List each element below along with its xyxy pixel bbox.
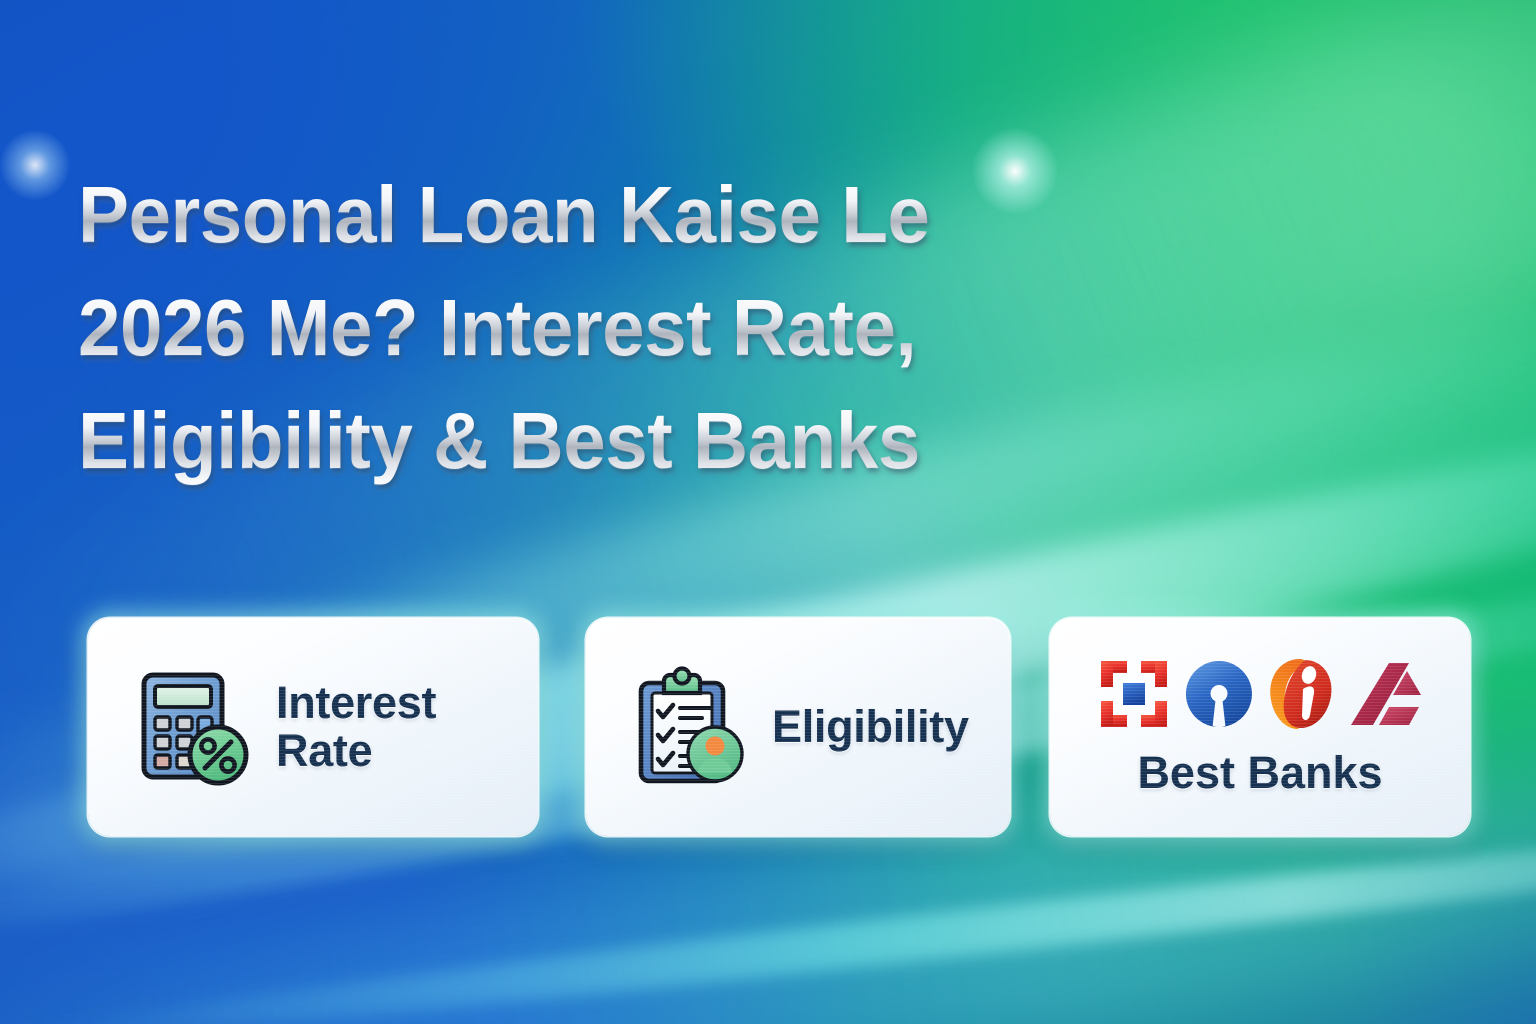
page-title: Personal Loan Kaise Le 2026 Me? Interest… <box>78 158 1198 497</box>
calculator-percent-icon <box>134 667 254 787</box>
card-best-banks-label: Best Banks <box>1137 747 1382 799</box>
clipboard-checklist-person-icon <box>632 667 750 787</box>
bank-logo-group <box>1095 655 1425 733</box>
title-line-3: Eligibility & Best Banks <box>78 384 1148 497</box>
banner-canvas: Personal Loan Kaise Le 2026 Me? Interest… <box>0 0 1536 1024</box>
icici-bank-logo <box>1265 655 1337 733</box>
card-eligibility[interactable]: Eligibility <box>586 618 1010 836</box>
hdfc-bank-logo <box>1095 655 1173 733</box>
sparkle-glow-left-icon <box>0 130 70 200</box>
title-line-1: Personal Loan Kaise Le <box>78 158 1148 271</box>
card-interest-rate-label: Interest Rate <box>276 679 436 774</box>
card-interest-rate[interactable]: Interest Rate <box>88 618 538 836</box>
card-interest-rate-content: Interest Rate <box>88 667 436 787</box>
card-eligibility-label: Eligibility <box>772 703 969 751</box>
title-line-2: 2026 Me? Interest Rate, <box>78 271 1148 384</box>
feature-card-row: Interest Rate <box>0 618 1536 848</box>
card-eligibility-content: Eligibility <box>586 667 969 787</box>
card-best-banks[interactable]: Best Banks <box>1050 618 1470 836</box>
vignette-overlay <box>0 0 1536 1024</box>
axis-bank-logo <box>1343 655 1425 733</box>
sbi-bank-logo <box>1179 655 1259 733</box>
